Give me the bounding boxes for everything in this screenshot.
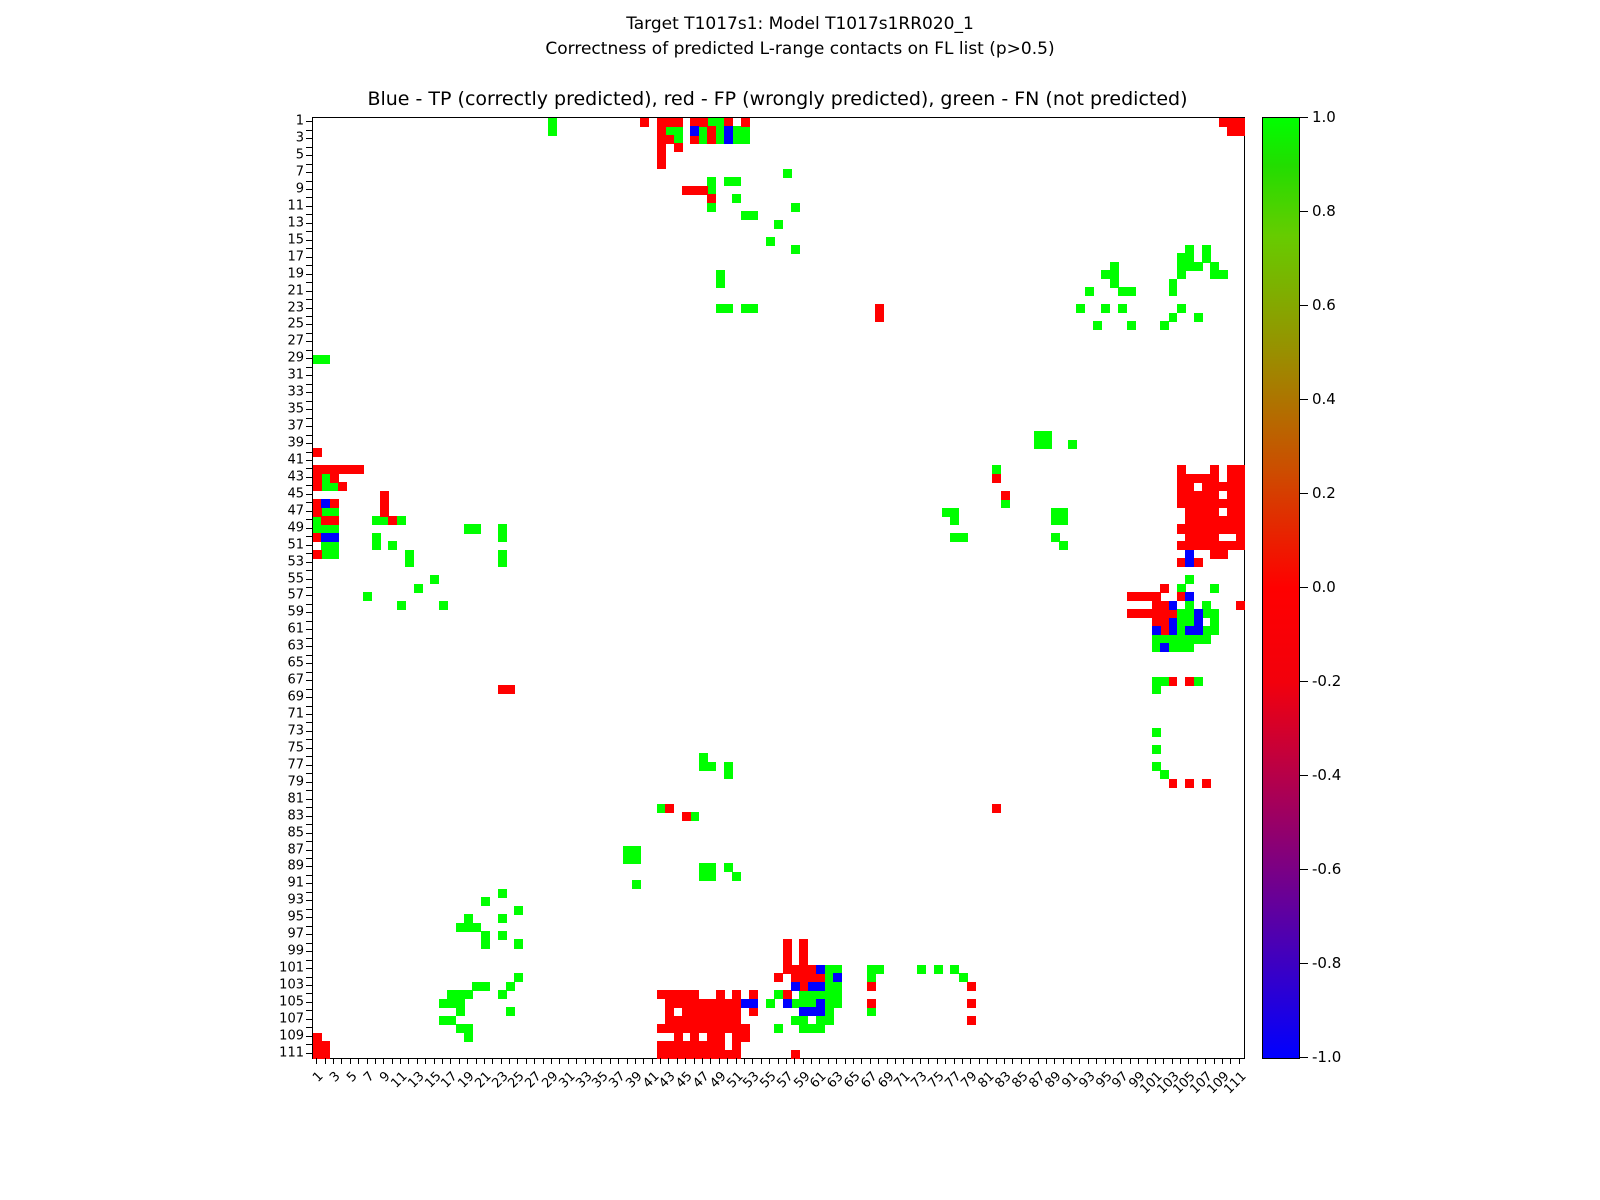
y-tick-label: 103 (279, 978, 304, 993)
x-tick-mark (1046, 1058, 1047, 1064)
x-tick-mark (803, 1058, 804, 1064)
y-tick-mark (306, 308, 312, 309)
x-tick-mark (383, 1058, 384, 1064)
y-tick-mark (306, 706, 312, 707)
contact-cell-fn (405, 558, 414, 567)
x-tick-mark (341, 1058, 342, 1064)
y-tick-label: 7 (296, 165, 304, 180)
x-tick-mark (534, 1058, 535, 1064)
y-tick-mark (306, 426, 312, 427)
y-tick-mark (306, 579, 312, 580)
contact-cell-tp (1160, 643, 1169, 652)
y-tick-mark (306, 841, 312, 842)
x-tick-mark (392, 1058, 393, 1064)
contact-cell-tp (783, 999, 792, 1008)
x-tick-mark (1147, 1058, 1148, 1064)
y-tick-label: 45 (287, 486, 304, 501)
y-tick-label: 97 (287, 927, 304, 942)
x-tick-mark (719, 1058, 720, 1064)
contact-cell-fp (313, 482, 322, 491)
x-tick-mark (559, 1058, 560, 1064)
y-tick-mark (306, 731, 312, 732)
x-tick-mark (845, 1058, 846, 1064)
contact-cell-fp (640, 118, 649, 127)
y-tick-mark (306, 604, 312, 605)
contact-cell-fp (657, 160, 666, 169)
y-tick-mark (306, 672, 312, 673)
y-tick-mark (306, 1053, 312, 1054)
contact-cell-fn (397, 601, 406, 610)
contact-cell-fp (338, 482, 347, 491)
x-tick-mark (895, 1058, 896, 1064)
y-tick-mark (306, 1019, 312, 1020)
contact-cell-fn (464, 1033, 473, 1042)
contact-cell-fn (506, 982, 515, 991)
y-tick-label: 73 (287, 723, 304, 738)
y-tick-mark (306, 502, 312, 503)
x-tick-mark (576, 1058, 577, 1064)
y-tick-mark (306, 350, 312, 351)
x-tick-mark (492, 1058, 493, 1064)
y-tick-mark (306, 866, 312, 867)
y-tick-label: 25 (287, 317, 304, 332)
contact-cell-fn (1059, 541, 1068, 550)
y-tick-mark (306, 291, 312, 292)
x-tick-mark (1063, 1058, 1064, 1064)
x-tick-mark (668, 1058, 669, 1064)
y-tick-mark (306, 985, 312, 986)
suptitle-line2: Correctness of predicted L-range contact… (0, 37, 1600, 62)
contact-cell-fn (1001, 499, 1010, 508)
x-tick-mark (1180, 1058, 1181, 1064)
suptitle-line1: Target T1017s1: Model T1017s1RR020_1 (0, 12, 1600, 37)
y-tick-mark (306, 452, 312, 453)
contact-cell-fn (548, 126, 557, 135)
contact-cell-tp (808, 982, 817, 991)
y-tick-label: 27 (287, 334, 304, 349)
y-tick-mark (306, 384, 312, 385)
x-tick-mark (1071, 1058, 1072, 1064)
contact-cell-fn (439, 601, 448, 610)
y-tick-mark (306, 646, 312, 647)
contact-cell-fp (690, 135, 699, 144)
y-tick-mark (306, 1002, 312, 1003)
y-tick-label: 89 (287, 859, 304, 874)
y-tick-mark (306, 231, 312, 232)
y-tick-mark (306, 545, 312, 546)
contact-cell-fn (1185, 245, 1194, 254)
y-tick-label: 81 (287, 791, 304, 806)
x-tick-mark (853, 1058, 854, 1064)
x-tick-mark (408, 1058, 409, 1064)
y-tick-mark (306, 528, 312, 529)
contact-cell-fn (724, 177, 733, 186)
y-tick-label: 21 (287, 283, 304, 298)
x-tick-mark (1163, 1058, 1164, 1064)
colorbar-tick-mark (1299, 963, 1308, 964)
x-tick-mark (434, 1058, 435, 1064)
colorbar-tick-label: -0.6 (1312, 860, 1341, 878)
y-tick-label: 47 (287, 503, 304, 518)
y-tick-label: 99 (287, 944, 304, 959)
y-tick-label: 23 (287, 300, 304, 315)
contact-cell-fp (674, 118, 683, 127)
contact-cell-fn (514, 973, 523, 982)
x-tick-mark (1121, 1058, 1122, 1064)
x-tick-mark (643, 1058, 644, 1064)
contact-cell-fp (1001, 491, 1010, 500)
y-tick-mark (306, 1036, 312, 1037)
y-tick-mark (306, 435, 312, 436)
x-tick-mark (627, 1058, 628, 1064)
y-tick-label: 19 (287, 266, 304, 281)
contact-cell-fn (934, 965, 943, 974)
contact-cell-fn (716, 279, 725, 288)
contact-cell-fn (1093, 321, 1102, 330)
y-tick-mark (306, 714, 312, 715)
x-tick-mark (526, 1058, 527, 1064)
x-tick-mark (970, 1058, 971, 1064)
x-tick-mark (333, 1058, 334, 1064)
x-tick-mark (476, 1058, 477, 1064)
y-tick-mark (306, 782, 312, 783)
contact-cell-fn (875, 965, 884, 974)
contact-cell-fn (783, 169, 792, 178)
y-tick-label: 75 (287, 740, 304, 755)
x-tick-mark (1172, 1058, 1173, 1064)
y-tick-label: 37 (287, 419, 304, 434)
y-tick-mark (306, 494, 312, 495)
y-tick-label: 63 (287, 639, 304, 654)
x-tick-mark (484, 1058, 485, 1064)
y-tick-mark (306, 341, 312, 342)
y-tick-mark (306, 214, 312, 215)
contact-cell-fn (950, 516, 959, 525)
x-tick-mark (786, 1058, 787, 1064)
contact-cell-tp (741, 999, 750, 1008)
contact-cell-fp (1185, 779, 1194, 788)
x-tick-mark (1105, 1058, 1106, 1064)
y-tick-mark (306, 892, 312, 893)
y-tick-mark (306, 807, 312, 808)
y-tick-mark (306, 485, 312, 486)
y-tick-mark (306, 960, 312, 961)
contact-cell-fn (456, 1007, 465, 1016)
x-tick-mark (694, 1058, 695, 1064)
x-tick-mark (945, 1058, 946, 1064)
x-tick-mark (710, 1058, 711, 1064)
y-tick-mark (306, 883, 312, 884)
y-tick-label: 11 (287, 198, 304, 213)
contact-cell-tp (1185, 558, 1194, 567)
x-tick-mark (736, 1058, 737, 1064)
axes-title-legend: Blue - TP (correctly predicted), red - F… (312, 88, 1243, 110)
y-tick-label: 67 (287, 673, 304, 688)
y-tick-mark (306, 993, 312, 994)
y-tick-label: 83 (287, 808, 304, 823)
x-tick-mark (761, 1058, 762, 1064)
y-tick-mark (306, 875, 312, 876)
y-tick-mark (306, 324, 312, 325)
y-tick-mark (306, 240, 312, 241)
colorbar-tick-label: 0.0 (1312, 578, 1336, 596)
contact-cell-fp (774, 973, 783, 982)
contact-cell-fp (1210, 491, 1219, 500)
contact-cell-fn (749, 211, 758, 220)
x-tick-mark (459, 1058, 460, 1064)
contact-cell-fn (732, 872, 741, 881)
contact-cell-fn (816, 1024, 825, 1033)
x-tick-mark (878, 1058, 879, 1064)
y-tick-mark (306, 562, 312, 563)
x-tick-mark (543, 1058, 544, 1064)
x-tick-mark (677, 1058, 678, 1064)
contact-cell-fn (372, 541, 381, 550)
x-tick-mark (769, 1058, 770, 1064)
contact-cell-fp (330, 516, 339, 525)
contact-cell-fn (1085, 287, 1094, 296)
contact-cell-fn (514, 906, 523, 915)
contact-cell-fn (464, 524, 473, 533)
x-tick-mark (1155, 1058, 1156, 1064)
contact-map-plot-area[interactable] (312, 117, 1245, 1059)
colorbar-tick-label: -0.4 (1312, 766, 1341, 784)
y-tick-mark (306, 612, 312, 613)
y-tick-label: 61 (287, 622, 304, 637)
y-tick-mark (306, 680, 312, 681)
x-tick-mark (450, 1058, 451, 1064)
y-tick-mark (306, 265, 312, 266)
y-tick-mark (306, 951, 312, 952)
contact-cell-fp (1169, 677, 1178, 686)
contact-cell-tp (816, 982, 825, 991)
contact-cell-fp (330, 474, 339, 483)
y-tick-mark (306, 316, 312, 317)
contact-cell-fn (1152, 762, 1161, 771)
colorbar-tick-label: 1.0 (1312, 108, 1336, 126)
contact-cell-fn (472, 524, 481, 533)
y-tick-label: 107 (279, 1011, 304, 1026)
y-tick-mark (306, 570, 312, 571)
x-tick-mark (593, 1058, 594, 1064)
x-tick-mark (1004, 1058, 1005, 1064)
contact-cell-fn (363, 592, 372, 601)
contact-cell-fp (380, 499, 389, 508)
y-tick-label: 9 (296, 181, 304, 196)
contact-cell-tp (749, 999, 758, 1008)
x-tick-mark (861, 1058, 862, 1064)
contact-cell-fn (1202, 635, 1211, 644)
contact-cell-fn (498, 990, 507, 999)
x-tick-mark (652, 1058, 653, 1064)
contact-cell-fp (707, 194, 716, 203)
contact-cell-fp (330, 499, 339, 508)
colorbar-tick-label: -1.0 (1312, 1048, 1341, 1066)
contact-cell-fn (867, 1007, 876, 1016)
x-tick-mark (996, 1058, 997, 1064)
contact-cell-tp (1185, 550, 1194, 559)
y-tick-label: 17 (287, 249, 304, 264)
contact-cell-fp (665, 118, 674, 127)
contact-cell-fp (313, 474, 322, 483)
contact-cell-fp (741, 118, 750, 127)
y-tick-mark (306, 130, 312, 131)
contact-cell-tp (321, 499, 330, 508)
y-tick-label: 51 (287, 537, 304, 552)
y-tick-mark (306, 722, 312, 723)
colorbar-tick-mark (1299, 587, 1308, 588)
contact-map-figure: Target T1017s1: Model T1017s1RR020_1 Cor… (0, 0, 1600, 1200)
y-tick-mark (306, 519, 312, 520)
y-tick-mark (306, 282, 312, 283)
y-tick-label: 13 (287, 215, 304, 230)
contact-cell-fp (699, 1024, 708, 1033)
y-tick-mark (306, 689, 312, 690)
y-tick-mark (306, 477, 312, 478)
y-tick-label: 49 (287, 520, 304, 535)
contact-cell-fp (1127, 609, 1136, 618)
contact-cell-fn (1152, 685, 1161, 694)
contact-cell-fn (825, 1016, 834, 1025)
contact-cell-fn (1043, 440, 1052, 449)
x-tick-mark (1138, 1058, 1139, 1064)
y-tick-mark (306, 977, 312, 978)
y-tick-mark (306, 257, 312, 258)
y-tick-mark (306, 833, 312, 834)
contact-cell-fp (1210, 508, 1219, 517)
contact-cell-fn (766, 237, 775, 246)
contact-cell-fn (481, 982, 490, 991)
contact-cell-fp (783, 939, 792, 948)
y-tick-mark (306, 765, 312, 766)
contact-cell-fn (1210, 584, 1219, 593)
y-tick-label: 5 (296, 148, 304, 163)
y-tick-mark (306, 138, 312, 139)
contact-cell-fn (1152, 728, 1161, 737)
contact-cell-fp (313, 550, 322, 559)
contact-cell-fn (950, 965, 959, 974)
contact-cell-fp (799, 939, 808, 948)
y-tick-mark (306, 773, 312, 774)
x-tick-mark (794, 1058, 795, 1064)
contact-cell-fp (1210, 533, 1219, 542)
y-tick-mark (306, 1027, 312, 1028)
contact-cell-fn (498, 558, 507, 567)
y-tick-mark (306, 756, 312, 757)
y-tick-mark (306, 468, 312, 469)
x-tick-mark (685, 1058, 686, 1064)
contact-cell-fn (548, 118, 557, 127)
contact-cell-fp (1236, 541, 1245, 550)
contact-cell-tp (1169, 601, 1178, 610)
x-tick-mark (1038, 1058, 1039, 1064)
contact-cell-fp (707, 135, 716, 144)
contact-cell-fn (1152, 745, 1161, 754)
y-tick-mark (306, 655, 312, 656)
y-tick-label: 87 (287, 842, 304, 857)
contact-cell-fn (1185, 575, 1194, 584)
contact-cell-fp (1202, 779, 1211, 788)
contact-cell-fp (1236, 126, 1245, 135)
y-tick-mark (306, 697, 312, 698)
y-tick-mark (306, 274, 312, 275)
contact-cell-fn (1169, 313, 1178, 322)
contact-cell-fn (330, 550, 339, 559)
y-tick-label: 39 (287, 436, 304, 451)
contact-cell-fn (1194, 677, 1203, 686)
y-tick-mark (306, 850, 312, 851)
y-tick-label: 35 (287, 402, 304, 417)
contact-cell-fn (481, 939, 490, 948)
x-tick-mark (467, 1058, 468, 1064)
contact-cell-fn (741, 304, 750, 313)
contact-cell-layer (313, 118, 1244, 1058)
x-tick-mark (1088, 1058, 1089, 1064)
x-tick-mark (928, 1058, 929, 1064)
contact-cell-fn (724, 304, 733, 313)
y-tick-mark (306, 638, 312, 639)
y-tick-label: 91 (287, 876, 304, 891)
contact-cell-fp (682, 812, 691, 821)
contact-cell-fn (372, 533, 381, 542)
contact-cell-fn (732, 177, 741, 186)
x-tick-mark (1113, 1058, 1114, 1064)
colorbar-tick-mark (1299, 399, 1308, 400)
x-tick-mark (610, 1058, 611, 1064)
x-tick-mark (400, 1058, 401, 1064)
y-tick-mark (306, 816, 312, 817)
x-tick-mark (1096, 1058, 1097, 1064)
contact-cell-fp (749, 1007, 758, 1016)
x-tick-mark (887, 1058, 888, 1064)
y-tick-mark (306, 587, 312, 588)
x-tick-mark (1239, 1058, 1240, 1064)
y-tick-mark (306, 909, 312, 910)
contact-cell-fn (498, 550, 507, 559)
x-tick-mark (920, 1058, 921, 1064)
y-tick-label: 15 (287, 232, 304, 247)
y-tick-mark (306, 299, 312, 300)
contact-cell-fn (707, 762, 716, 771)
y-tick-mark (306, 367, 312, 368)
y-tick-mark (306, 164, 312, 165)
y-tick-mark (306, 621, 312, 622)
x-tick-mark (1029, 1058, 1030, 1064)
contact-cell-fn (1118, 304, 1127, 313)
contact-cell-fn (498, 931, 507, 940)
contact-cell-fn (749, 304, 758, 313)
contact-cell-fp (321, 1041, 330, 1050)
contact-cell-fp (867, 982, 876, 991)
y-tick-label: 31 (287, 368, 304, 383)
contact-cell-fp (867, 999, 876, 1008)
colorbar-tick-mark (1299, 305, 1308, 306)
y-tick-mark (306, 799, 312, 800)
contact-cell-fn (732, 194, 741, 203)
y-tick-mark (306, 155, 312, 156)
x-tick-mark (568, 1058, 569, 1064)
colorbar-tick-mark (1299, 869, 1308, 870)
contact-cell-fp (1236, 601, 1245, 610)
y-tick-mark (306, 375, 312, 376)
x-tick-mark (350, 1058, 351, 1064)
contact-cell-fn (825, 982, 834, 991)
x-tick-mark (778, 1058, 779, 1064)
y-tick-label: 29 (287, 351, 304, 366)
y-tick-mark (306, 968, 312, 969)
contact-cell-fp (1185, 677, 1194, 686)
y-tick-mark (306, 189, 312, 190)
